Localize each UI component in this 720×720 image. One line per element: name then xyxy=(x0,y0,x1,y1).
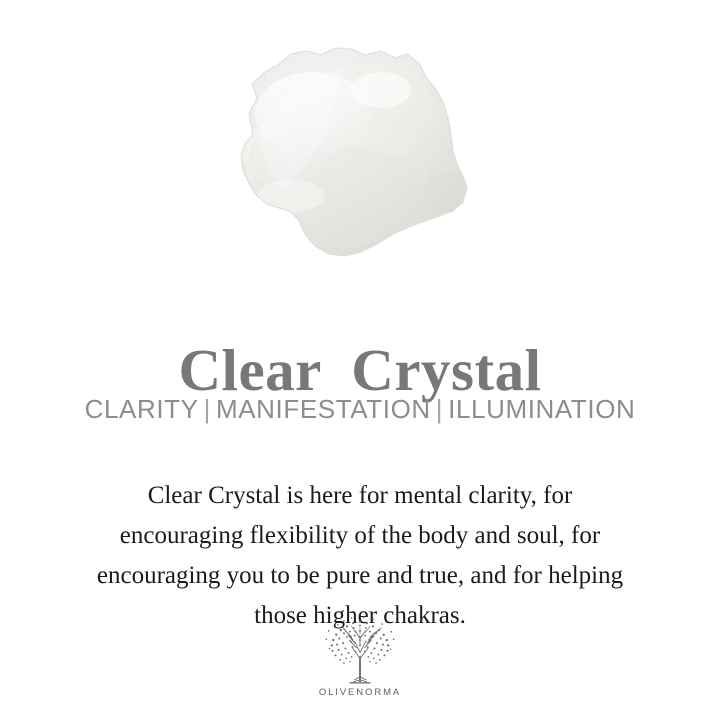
description-text: Clear Crystal is here for mental clarity… xyxy=(38,476,682,636)
keyword-separator-2: | xyxy=(431,394,448,424)
keyword-separator-1: | xyxy=(199,394,216,424)
description-line-1: Clear Crystal is here for mental clarity… xyxy=(38,476,682,516)
keyword-list: CLARITY|MANIFESTATION|ILLUMINATION xyxy=(0,393,720,425)
clear-crystal-stone-icon xyxy=(195,18,495,278)
brand-logo: OLIVENORMA xyxy=(0,614,720,698)
olive-tree-logo-icon xyxy=(318,614,402,686)
keyword-illumination: ILLUMINATION xyxy=(448,394,635,424)
keyword-manifestation: MANIFESTATION xyxy=(216,394,431,424)
crystal-image-container xyxy=(0,0,720,290)
description-line-3: encouraging you to be pure and true, and… xyxy=(38,556,682,596)
brand-wordmark: OLIVENORMA xyxy=(319,687,401,698)
clear-crystal-info-card: Clear Crystal CLARITY|MANIFESTATION|ILLU… xyxy=(0,0,720,720)
keyword-clarity: CLARITY xyxy=(85,394,199,424)
description-line-2: encouraging flexibility of the body and … xyxy=(38,516,682,556)
tree-branches xyxy=(342,626,382,683)
